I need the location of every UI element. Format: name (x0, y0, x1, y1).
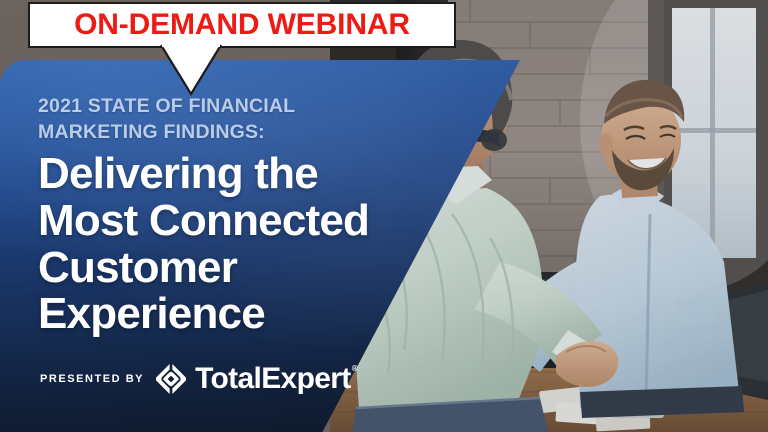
on-demand-webinar-banner: ON-DEMAND WEBINAR (28, 2, 456, 48)
presented-by-label: PRESENTED BY (40, 373, 144, 385)
hero-eyebrow-line-2: MARKETING FINDINGS: (38, 121, 265, 143)
hero-headline: Delivering the Most Connected Customer E… (38, 151, 458, 338)
totalexpert-wordmark-text: TotalExpert (195, 362, 351, 395)
hero-eyebrow-line-1: 2021 STATE OF FINANCIAL (38, 95, 295, 117)
banner-speech-tail (160, 44, 222, 96)
hero-headline-line-3: Customer (38, 245, 458, 292)
totalexpert-wordmark: TotalExpert® (195, 364, 351, 394)
hero-headline-line-1: Delivering the (38, 151, 458, 198)
hero-headline-line-4: Experience (38, 291, 458, 338)
hero-text-block: 2021 STATE OF FINANCIAL MARKETING FINDIN… (38, 94, 458, 338)
on-demand-webinar-label: ON-DEMAND WEBINAR (74, 10, 410, 40)
webinar-promo-banner: 2021 STATE OF FINANCIAL MARKETING FINDIN… (0, 0, 768, 432)
totalexpert-diamond-logo-icon (154, 362, 188, 396)
hero-eyebrow: 2021 STATE OF FINANCIAL MARKETING FINDIN… (38, 94, 458, 145)
presenter-lockup: PRESENTED BY (40, 362, 351, 396)
totalexpert-logo: TotalExpert® (154, 362, 351, 396)
trademark-symbol: ® (352, 365, 358, 373)
hero-headline-line-2: Most Connected (38, 198, 458, 245)
